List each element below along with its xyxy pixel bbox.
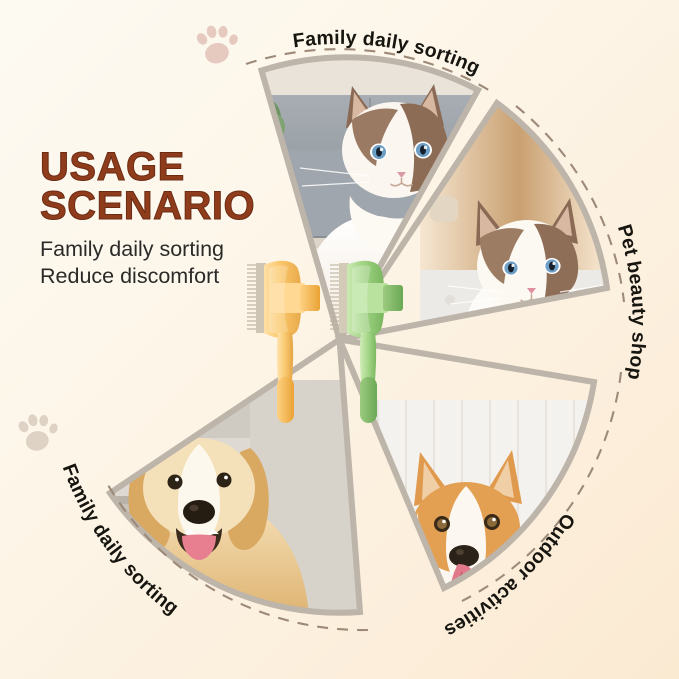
paw-bottom-left <box>15 409 63 454</box>
brush-pins-green <box>330 263 349 333</box>
subtitle-line-1: Family daily sorting <box>40 237 224 261</box>
subtitle-line-2: Reduce discomfort <box>40 264 219 288</box>
headline-block: USAGE SCENARIO Family daily sorting Redu… <box>40 148 305 289</box>
subtitle: Family daily sorting Reduce discomfort <box>40 236 305 288</box>
page-title: USAGE SCENARIO <box>40 148 305 226</box>
title-line-1: USAGE <box>40 148 305 187</box>
paw-top-left <box>193 19 244 67</box>
title-line-2: SCENARIO <box>40 187 305 226</box>
label-right: Pet beauty shop <box>613 222 650 382</box>
infographic-canvas: Family daily sorting Pet beauty shop Out… <box>0 0 679 679</box>
brush-green[interactable] <box>330 261 403 423</box>
